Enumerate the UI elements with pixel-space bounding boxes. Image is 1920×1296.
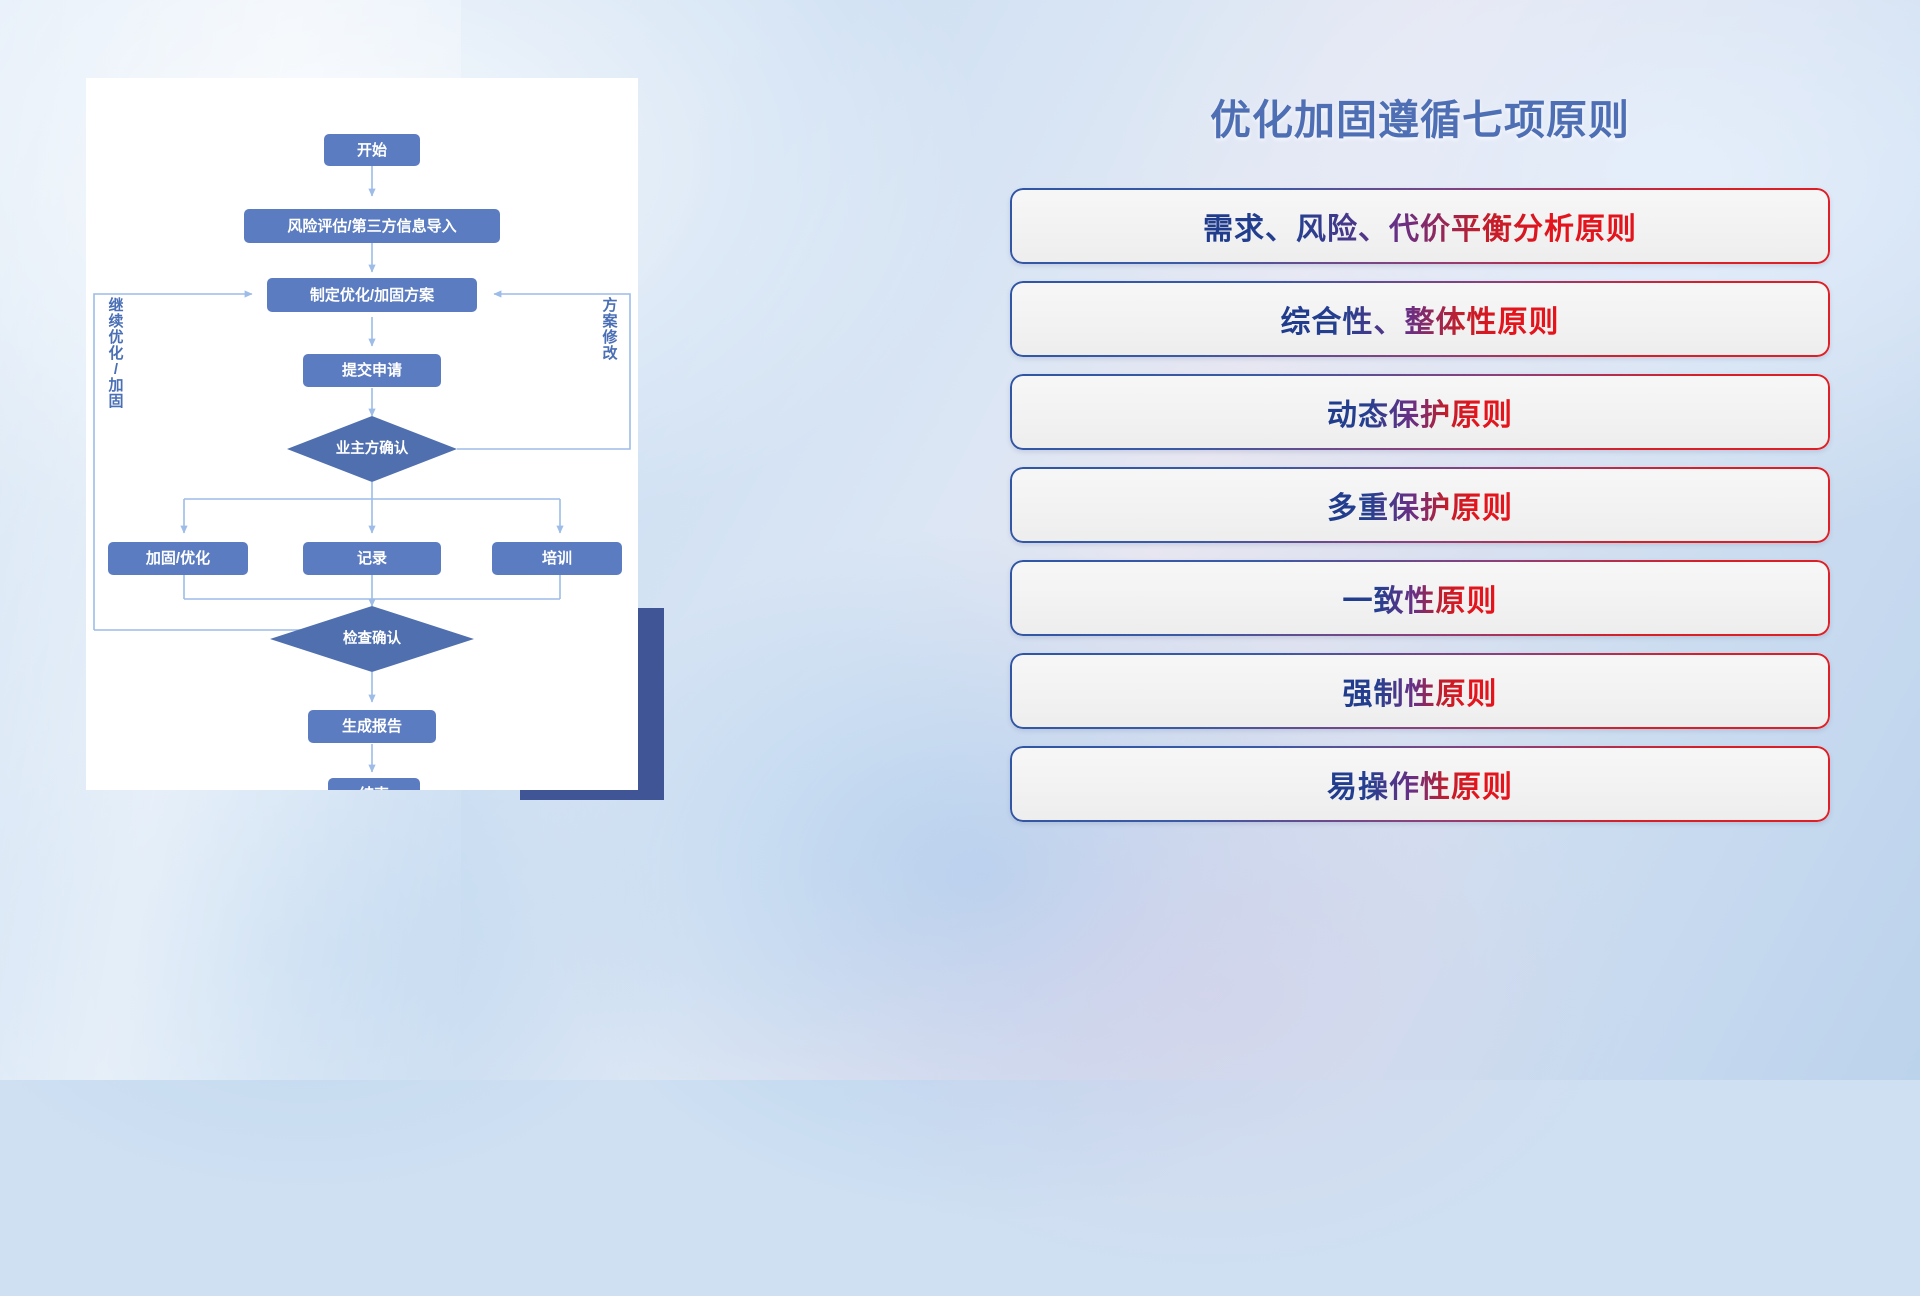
- node-submit-application[interactable]: 提交申请: [303, 354, 441, 387]
- principle-card-5[interactable]: 一致性原则: [1010, 560, 1830, 636]
- edge-label-left-loop: 继续优化/加固: [107, 296, 123, 410]
- principles-list: 需求、风险、代价平衡分析原则 综合性、整体性原则 动态保护原则 多重保护原则 一…: [1010, 188, 1830, 822]
- principle-label: 综合性、整体性原则: [1281, 297, 1560, 341]
- flowchart-diagram: 开始 风险评估/第三方信息导入 制定优化/加固方案 提交申请 业主方确认: [86, 78, 638, 790]
- node-training[interactable]: 培训: [492, 542, 622, 575]
- node-end-label: 结束: [359, 785, 390, 790]
- principle-label: 易操作性原则: [1327, 762, 1513, 806]
- node-check-confirm-label: 检查确认: [343, 629, 401, 647]
- principle-label: 多重保护原则: [1327, 483, 1513, 527]
- principle-label: 一致性原则: [1343, 576, 1498, 620]
- principle-label: 需求、风险、代价平衡分析原则: [1203, 204, 1637, 248]
- principle-card-2[interactable]: 综合性、整体性原则: [1010, 281, 1830, 357]
- principles-panel: 优化加固遵循七项原则 需求、风险、代价平衡分析原则 综合性、整体性原则 动态保护…: [1010, 80, 1830, 1010]
- node-submit-application-label: 提交申请: [342, 361, 402, 379]
- node-training-label: 培训: [542, 549, 572, 567]
- node-record-label: 记录: [357, 550, 387, 567]
- node-end[interactable]: 结束: [328, 778, 420, 790]
- principle-card-7[interactable]: 易操作性原则: [1010, 746, 1830, 822]
- principle-label: 动态保护原则: [1327, 390, 1513, 434]
- node-start[interactable]: 开始: [324, 134, 420, 166]
- node-risk-assessment-label: 风险评估/第三方信息导入: [287, 217, 456, 235]
- node-reinforce-optimize[interactable]: 加固/优化: [108, 542, 248, 575]
- principle-card-3[interactable]: 动态保护原则: [1010, 374, 1830, 450]
- node-generate-report-label: 生成报告: [342, 717, 402, 735]
- principle-card-4[interactable]: 多重保护原则: [1010, 467, 1830, 543]
- node-make-plan-label: 制定优化/加固方案: [310, 286, 435, 304]
- principle-card-1[interactable]: 需求、风险、代价平衡分析原则: [1010, 188, 1830, 264]
- node-owner-confirm[interactable]: 业主方确认: [287, 416, 457, 482]
- node-make-plan[interactable]: 制定优化/加固方案: [267, 278, 477, 312]
- node-risk-assessment[interactable]: 风险评估/第三方信息导入: [244, 209, 500, 243]
- principle-card-6[interactable]: 强制性原则: [1010, 653, 1830, 729]
- edge-label-right-loop: 方案修改: [601, 296, 618, 362]
- principle-label: 强制性原则: [1343, 669, 1498, 713]
- node-record[interactable]: 记录: [303, 542, 441, 575]
- flowchart-card: 开始 风险评估/第三方信息导入 制定优化/加固方案 提交申请 业主方确认: [86, 78, 638, 790]
- node-reinforce-optimize-label: 加固/优化: [145, 549, 210, 567]
- node-owner-confirm-label: 业主方确认: [336, 439, 409, 457]
- page-title: 优化加固遵循七项原则: [1010, 80, 1830, 146]
- flowchart-panel: 开始 风险评估/第三方信息导入 制定优化/加固方案 提交申请 业主方确认: [86, 78, 662, 800]
- node-check-confirm[interactable]: 检查确认: [270, 606, 474, 672]
- node-generate-report[interactable]: 生成报告: [308, 710, 436, 743]
- node-start-label: 开始: [357, 141, 387, 159]
